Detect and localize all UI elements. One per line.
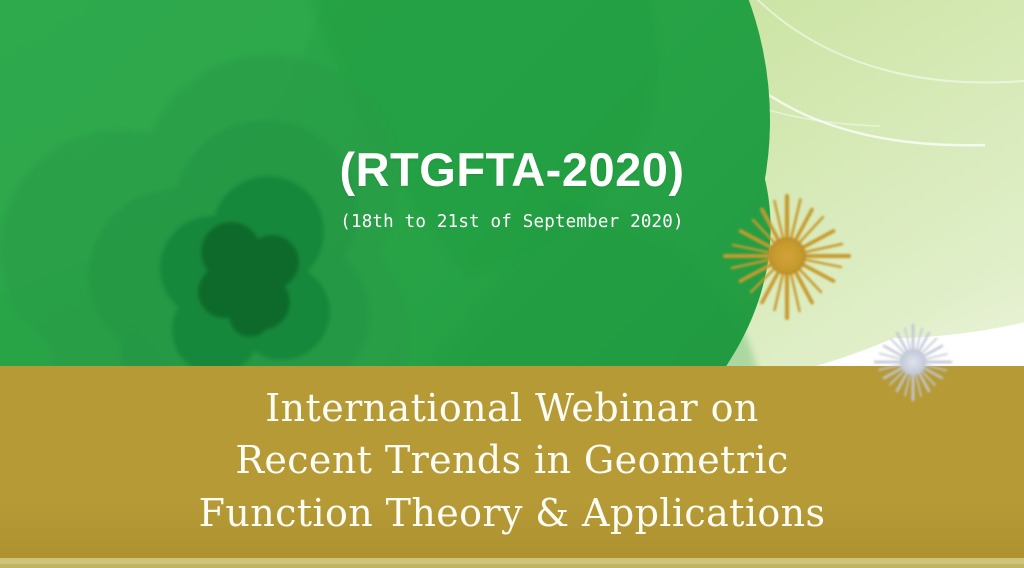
event-title-line-3: Function Theory & Applications (0, 487, 1024, 539)
hero-text-block: (RTGFTA-2020) (18th to 21st of September… (0, 146, 1024, 232)
event-dates-subtitle: (18th to 21st of September 2020) (0, 212, 1024, 232)
event-full-title-block: International Webinar on Recent Trends i… (0, 382, 1024, 539)
event-title-line-2: Recent Trends in Geometric (0, 434, 1024, 486)
gold-band-light-stripe (0, 558, 1024, 564)
gold-band-bottom-edge (0, 564, 1024, 568)
poster-root: (RTGFTA-2020) (18th to 21st of September… (0, 0, 1024, 568)
event-title-line-1: International Webinar on (0, 382, 1024, 434)
event-acronym-title: (RTGFTA-2020) (0, 146, 1024, 195)
